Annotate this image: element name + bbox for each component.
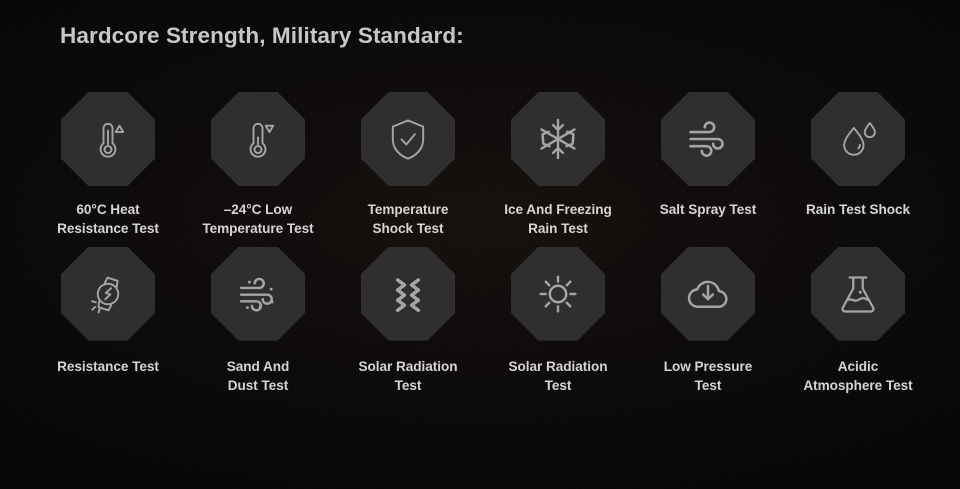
test-label-line1: Sand And (183, 357, 333, 376)
icon-tile (511, 247, 605, 341)
icon-tile (661, 92, 755, 186)
test-label: Salt Spray Test (633, 200, 783, 219)
test-label-line2: Resistance Test (33, 219, 183, 238)
test-label-line2: Test (483, 376, 633, 395)
icon-tile (361, 247, 455, 341)
test-label: Low Pressure Test (633, 357, 783, 396)
icon-tile (661, 247, 755, 341)
cloud-download-icon (681, 267, 735, 321)
test-label-line1: Solar Radiation (483, 357, 633, 376)
test-item-vibration[interactable]: Solar Radiation Test (333, 247, 483, 396)
test-item-rain-shock[interactable]: Rain Test Shock (783, 92, 933, 239)
test-label-line2: Temperature Test (183, 219, 333, 238)
test-label-line2: Test (333, 376, 483, 395)
test-label: 60°C Heat Resistance Test (33, 200, 183, 239)
test-label-line2: Atmosphere Test (783, 376, 933, 395)
test-label-line2: Rain Test (483, 219, 633, 238)
snowflake-icon (531, 112, 585, 166)
icon-tile (61, 247, 155, 341)
test-label: –24°C Low Temperature Test (183, 200, 333, 239)
icon-tile (211, 92, 305, 186)
test-label-line1: –24°C Low (183, 200, 333, 219)
flask-icon (831, 267, 885, 321)
test-item-temperature-shock[interactable]: Temperature Shock Test (333, 92, 483, 239)
test-label: Solar Radiation Test (483, 357, 633, 396)
test-label: Temperature Shock Test (333, 200, 483, 239)
thermometer-low-icon (231, 112, 285, 166)
icon-tile (811, 247, 905, 341)
test-item-heat-resistance[interactable]: 60°C Heat Resistance Test (33, 92, 183, 239)
test-label-line2: Shock Test (333, 219, 483, 238)
test-label-line1: Resistance Test (33, 357, 183, 376)
test-label: Rain Test Shock (783, 200, 933, 219)
test-label-line1: Temperature (333, 200, 483, 219)
icon-tile (61, 92, 155, 186)
icon-tile (811, 92, 905, 186)
test-item-solar-radiation[interactable]: Solar Radiation Test (483, 247, 633, 396)
test-item-sand-dust[interactable]: Sand And Dust Test (183, 247, 333, 396)
sun-icon (531, 267, 585, 321)
page-title: Hardcore Strength, Military Standard: (60, 23, 464, 49)
test-label-line1: Solar Radiation (333, 357, 483, 376)
icon-tile (511, 92, 605, 186)
wind-dust-icon (231, 267, 285, 321)
test-item-salt-spray[interactable]: Salt Spray Test (633, 92, 783, 239)
test-item-shock-resistance[interactable]: Resistance Test (33, 247, 183, 396)
icon-tile (361, 92, 455, 186)
test-label: Solar Radiation Test (333, 357, 483, 396)
feature-panel: Hardcore Strength, Military Standard: 60… (0, 0, 960, 489)
test-label-line1: Ice And Freezing (483, 200, 633, 219)
thermometer-high-icon (81, 112, 135, 166)
shield-check-icon (381, 112, 435, 166)
watch-shock-icon (81, 267, 135, 321)
test-label: Sand And Dust Test (183, 357, 333, 396)
test-label-line2: Test (633, 376, 783, 395)
test-item-low-pressure[interactable]: Low Pressure Test (633, 247, 783, 396)
test-item-ice-freezing-rain[interactable]: Ice And Freezing Rain Test (483, 92, 633, 239)
wind-icon (681, 112, 735, 166)
test-label: Acidic Atmosphere Test (783, 357, 933, 396)
test-grid: 60°C Heat Resistance Test –24°C Low Temp… (33, 92, 933, 395)
test-label-line1: Low Pressure (633, 357, 783, 376)
test-item-acidic-atmosphere[interactable]: Acidic Atmosphere Test (783, 247, 933, 396)
test-label-line1: Acidic (783, 357, 933, 376)
icon-tile (211, 247, 305, 341)
test-label-line1: 60°C Heat (33, 200, 183, 219)
test-label: Resistance Test (33, 357, 183, 376)
water-drop-icon (831, 112, 885, 166)
test-item-low-temperature[interactable]: –24°C Low Temperature Test (183, 92, 333, 239)
test-label: Ice And Freezing Rain Test (483, 200, 633, 239)
test-label-line1: Rain Test Shock (783, 200, 933, 219)
test-label-line1: Salt Spray Test (633, 200, 783, 219)
test-label-line2: Dust Test (183, 376, 333, 395)
vibration-wave-icon (381, 267, 435, 321)
